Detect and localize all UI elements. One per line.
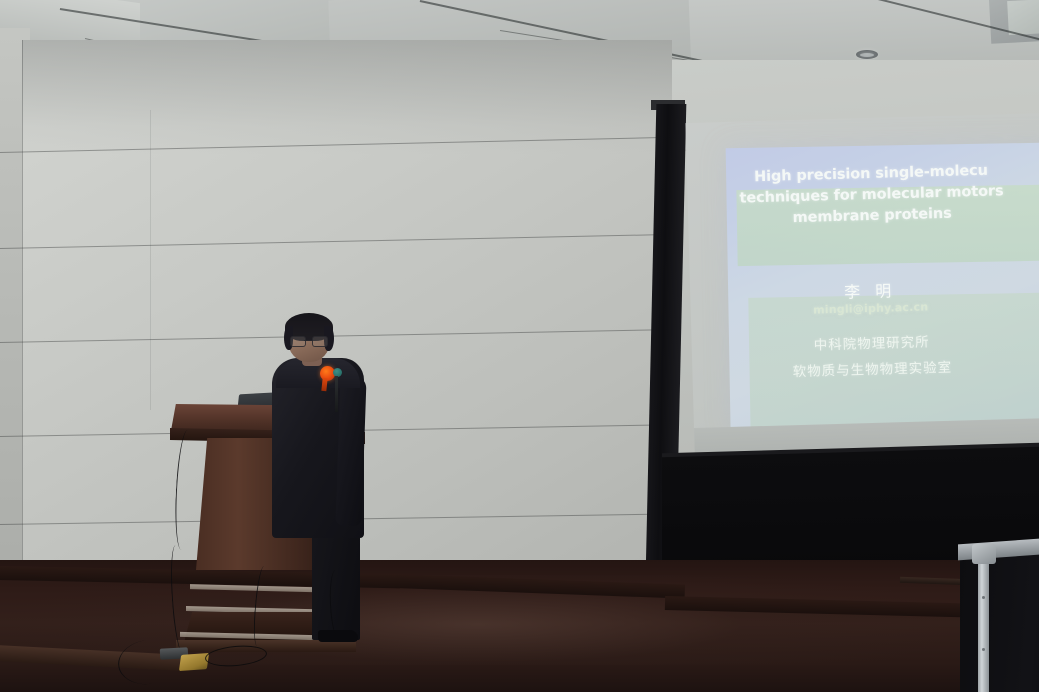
projection-screen: High precision single-molecu techniques … xyxy=(685,113,1039,453)
flight-case-corner-bracket xyxy=(972,544,996,564)
microphone-stand xyxy=(335,376,338,412)
wall-seam-vertical xyxy=(22,40,23,620)
glasses-bridge xyxy=(304,340,312,341)
speaker-arm xyxy=(335,376,366,527)
glasses-lens-right xyxy=(312,336,328,347)
ceiling-downlight-icon xyxy=(856,50,878,59)
presentation-photo-scene: High precision single-molecu techniques … xyxy=(0,0,1039,692)
flight-case-body xyxy=(960,548,1039,692)
flight-case-rivet xyxy=(982,648,985,651)
wall-seam-vertical xyxy=(150,110,151,410)
glasses-icon xyxy=(290,336,328,345)
flight-case-rivet xyxy=(982,596,985,599)
wall-shading xyxy=(22,40,672,155)
glasses-lens-left xyxy=(290,336,306,347)
slide-title-text: High precision single-molecu techniques … xyxy=(695,159,1039,232)
flight-case-corner-post xyxy=(978,548,989,692)
ceiling-glass-panel xyxy=(1007,0,1039,35)
